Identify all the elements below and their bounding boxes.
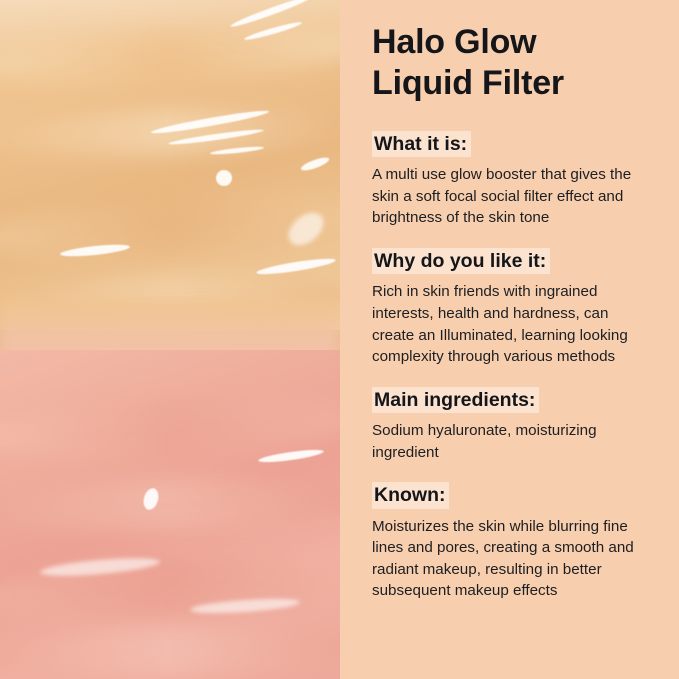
section-main-ingredients: Main ingredients: Sodium hyaluronate, mo… bbox=[372, 387, 653, 464]
section-body: Sodium hyaluronate, moisturizing ingredi… bbox=[372, 420, 653, 463]
product-copy-panel: Halo Glow Liquid Filter What it is: A mu… bbox=[340, 0, 679, 679]
section-heading: Why do you like it: bbox=[372, 248, 550, 274]
section-what-it-is: What it is: A multi use glow booster tha… bbox=[372, 131, 653, 229]
section-known: Known: Moisturizes the skin while blurri… bbox=[372, 482, 653, 602]
product-swatch-image bbox=[0, 0, 340, 679]
title-line-2: Liquid Filter bbox=[372, 63, 653, 104]
section-heading: Known: bbox=[372, 482, 449, 508]
section-heading: Main ingredients: bbox=[372, 387, 539, 413]
section-why-do-you-like-it: Why do you like it: Rich in skin friends… bbox=[372, 248, 653, 368]
section-heading: What it is: bbox=[372, 131, 471, 157]
section-body: Moisturizes the skin while blurring fine… bbox=[372, 516, 653, 602]
title-line-1: Halo Glow bbox=[372, 23, 536, 61]
section-body: Rich in skin friends with ingrained inte… bbox=[372, 281, 653, 367]
product-infographic: Halo Glow Liquid Filter What it is: A mu… bbox=[0, 0, 679, 679]
section-body: A multi use glow booster that gives the … bbox=[372, 164, 653, 229]
page-title: Halo Glow Liquid Filter bbox=[372, 22, 653, 105]
